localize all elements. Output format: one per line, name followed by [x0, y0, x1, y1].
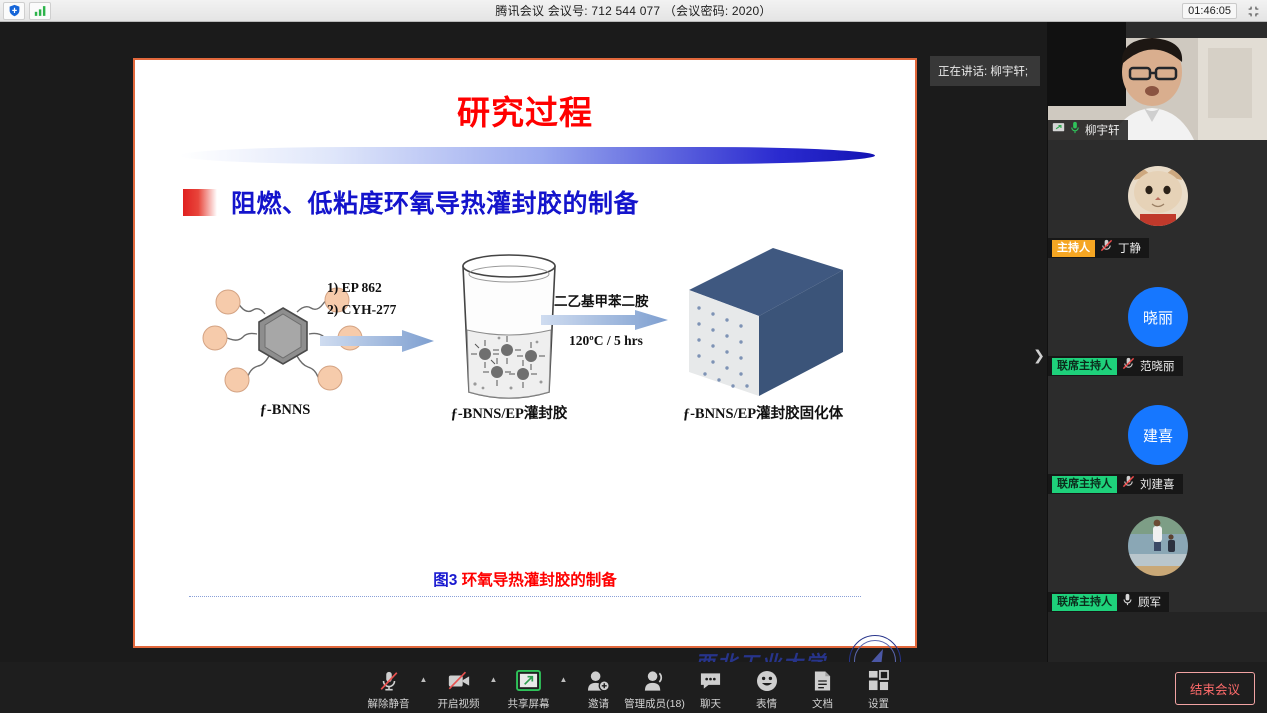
- participant-name: 顾军: [1138, 594, 1161, 610]
- participant-label: 柳宇轩: [1048, 120, 1128, 140]
- step3-label: ƒ-BNNS/EP灌封胶固化体: [663, 402, 863, 423]
- tencent-meeting-window: 腾讯会议 会议号: 712 544 077 （会议密码: 2020） 01:46…: [0, 0, 1267, 713]
- participant-label: 联席主持人 刘建喜: [1048, 474, 1183, 494]
- step2-label: ƒ-BNNS/EP灌封胶: [429, 402, 589, 423]
- toolbar-share-screen-button[interactable]: 共享屏幕: [501, 665, 557, 711]
- participant-label: 联席主持人 顾军: [1048, 592, 1169, 612]
- emoji-icon: [756, 669, 778, 693]
- toolbar-label: 管理成员(18): [624, 696, 685, 711]
- active-speaker-banner: 正在讲话: 柳宇轩;: [930, 56, 1040, 86]
- presentation-slide: 研究过程 阻燃、低粘度环氧导热灌封胶的制备: [133, 58, 917, 648]
- document-icon: [813, 669, 832, 693]
- toolbar-label: 表情: [756, 696, 777, 711]
- participant-tile-dingjing[interactable]: 主持人 丁静: [1048, 140, 1267, 258]
- toolbar-emoji-button[interactable]: 表情: [739, 665, 795, 711]
- reaction-arrow-2: [541, 310, 669, 330]
- screen-share-icon: [516, 669, 541, 693]
- toolbar-manage-members-button[interactable]: 管理成员(18): [627, 665, 683, 711]
- end-meeting-button[interactable]: 结束会议: [1175, 672, 1255, 705]
- toolbar-unmute-button[interactable]: 解除静音: [361, 665, 417, 711]
- mic-on-icon: [1070, 121, 1080, 139]
- step1-label: ƒ-BNNS: [205, 402, 365, 419]
- exit-fullscreen-icon[interactable]: [1243, 2, 1263, 20]
- participant-tile-fanxiaoli[interactable]: 晓丽 联席主持人 范晓丽: [1048, 258, 1267, 376]
- reaction2-line2: 120ºC / 5 hrs: [569, 333, 643, 349]
- avatar-initials: 晓丽: [1128, 287, 1188, 347]
- host-badge: 主持人: [1052, 240, 1095, 257]
- toolbar-chat-button[interactable]: 聊天: [683, 665, 739, 711]
- meeting-title: 腾讯会议 会议号: 712 544 077 （会议密码: 2020）: [0, 2, 1267, 19]
- participant-name: 柳宇轩: [1085, 122, 1120, 138]
- toolbar-start-video-button[interactable]: 开启视频: [431, 665, 487, 711]
- participant-name: 范晓丽: [1140, 358, 1175, 374]
- toolbar-label: 邀请: [588, 696, 609, 711]
- toolbar-items: 解除静音 ▲ 开启视频 ▲ 共享屏幕 ▲ 邀请: [361, 665, 907, 711]
- toolbar-document-button[interactable]: 文档: [795, 665, 851, 711]
- reaction-arrow-1: [320, 330, 435, 352]
- figure-caption: 图3 环氧导热灌封胶的制备: [135, 568, 915, 590]
- reaction2-line1: 二乙基甲苯二胺: [554, 290, 649, 310]
- participant-label: 联席主持人 范晓丽: [1048, 356, 1183, 376]
- slide-title: 研究过程: [135, 86, 915, 134]
- participant-tile-liujianxi[interactable]: 建喜 联席主持人 刘建喜: [1048, 376, 1267, 494]
- cured-block-graphic: [675, 246, 850, 406]
- toolbar-label: 开启视频: [438, 696, 480, 711]
- cohost-badge: 联席主持人: [1052, 476, 1117, 493]
- slide-footer-divider: [189, 596, 861, 597]
- security-shield-icon[interactable]: [3, 2, 25, 20]
- title-bar: 腾讯会议 会议号: 712 544 077 （会议密码: 2020） 01:46…: [0, 0, 1267, 22]
- chat-bubble-icon: [699, 669, 722, 693]
- reaction1-line1: 1) EP 862: [327, 280, 382, 296]
- cohost-badge: 联席主持人: [1052, 358, 1117, 375]
- toolbar-label: 设置: [868, 696, 889, 711]
- toolbar-label: 文档: [812, 696, 833, 711]
- toolbar-settings-button[interactable]: 设置: [851, 665, 907, 711]
- shared-screen-stage: 研究过程 阻燃、低粘度环氧导热灌封胶的制备: [0, 22, 1020, 662]
- video-off-icon: [447, 669, 471, 693]
- collapse-panel-button[interactable]: ❯: [1031, 340, 1047, 370]
- mic-options-caret-icon[interactable]: ▲: [417, 675, 431, 700]
- meeting-timer: 01:46:05: [1182, 3, 1237, 19]
- title-divider-swoosh: [180, 147, 875, 164]
- settings-grid-icon: [868, 669, 889, 693]
- manage-members-icon: [643, 669, 666, 693]
- participant-name: 刘建喜: [1140, 476, 1175, 492]
- slide-subtitle-row: 阻燃、低粘度环氧导热灌封胶的制备: [183, 184, 915, 220]
- participant-label: 主持人 丁静: [1048, 238, 1149, 258]
- cohost-badge: 联席主持人: [1052, 594, 1117, 611]
- process-diagram: ƒ-BNNS 1) EP 862 2) CYH-277: [135, 242, 919, 492]
- participant-name: 丁静: [1118, 240, 1141, 256]
- network-signal-icon[interactable]: [29, 2, 51, 20]
- toolbar-label: 解除静音: [368, 696, 410, 711]
- invite-user-icon: [587, 669, 610, 693]
- mic-muted-icon: [1100, 239, 1113, 257]
- figure-index: 图3: [433, 572, 457, 589]
- participant-tile-liuyuxuan[interactable]: 柳宇轩: [1048, 22, 1267, 140]
- video-options-caret-icon[interactable]: ▲: [487, 675, 501, 700]
- participant-tile-gujun[interactable]: 联席主持人 顾军: [1048, 494, 1267, 612]
- mic-muted-icon: [378, 669, 400, 693]
- bottom-toolbar: 解除静音 ▲ 开启视频 ▲ 共享屏幕 ▲ 邀请: [0, 662, 1267, 713]
- avatar-initials: 建喜: [1128, 405, 1188, 465]
- toolbar-invite-button[interactable]: 邀请: [571, 665, 627, 711]
- figure-caption-text: 环氧导热灌封胶的制备: [462, 572, 617, 589]
- participant-panel: 柳宇轩 主持人: [1047, 22, 1267, 662]
- toolbar-label: 共享屏幕: [508, 696, 550, 711]
- mic-muted-icon: [1122, 475, 1135, 493]
- share-options-caret-icon[interactable]: ▲: [557, 675, 571, 700]
- title-bar-right: 01:46:05: [1182, 0, 1263, 22]
- title-bar-left-icons: [0, 2, 51, 20]
- screen-share-icon: [1052, 121, 1065, 139]
- mic-on-icon: [1122, 593, 1133, 611]
- toolbar-label: 聊天: [700, 696, 721, 711]
- slide-subtitle: 阻燃、低粘度环氧导热灌封胶的制备: [231, 184, 639, 220]
- subtitle-accent-bar: [183, 189, 217, 216]
- mic-muted-icon: [1122, 357, 1135, 375]
- reaction1-line2: 2) CYH-277: [327, 302, 396, 318]
